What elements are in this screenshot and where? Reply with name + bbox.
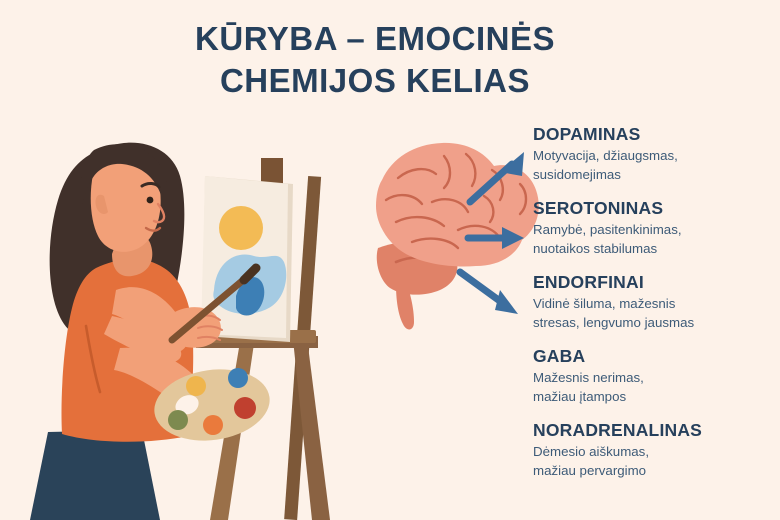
nt-desc-line: Ramybė, pasitenkinimas, — [533, 221, 780, 240]
nt-desc-gaba: Mažesnis nerimas, mažiau įtampos — [533, 369, 780, 407]
brain-illustration — [376, 143, 539, 330]
nt-desc-line: Dėmesio aiškumas, — [533, 443, 780, 462]
arrow-right — [468, 227, 524, 249]
nt-name-serotoninas: SEROTONINAS — [533, 198, 780, 218]
nt-desc-line: mažiau pervargimo — [533, 462, 780, 481]
nt-desc-line: nuotaikos stabilumas — [533, 240, 780, 259]
nt-name-noradrenalinas: NORADRENALINAS — [533, 420, 780, 440]
neurotransmitter-list: DOPAMINAS Motyvacija, džiaugsmas, susido… — [533, 124, 780, 493]
arrow-up-right — [470, 152, 524, 202]
brush-hand — [165, 307, 222, 348]
nt-desc-serotoninas: Ramybė, pasitenkinimas, nuotaikos stabil… — [533, 221, 780, 259]
paint-palette — [150, 362, 275, 447]
list-item: SEROTONINAS Ramybė, pasitenkinimas, nuot… — [533, 198, 780, 259]
easel — [186, 158, 330, 520]
arrow-down-right — [460, 272, 518, 314]
list-item: NORADRENALINAS Dėmesio aiškumas, mažiau … — [533, 420, 780, 481]
page-title: KŪRYBA – EMOCINĖS CHEMIJOS KELIAS — [150, 18, 600, 102]
nt-desc-line: susidomejimas — [533, 166, 780, 185]
paintbrush — [172, 268, 256, 340]
nt-desc-line: Vidinė šiluma, mažesnis — [533, 295, 780, 314]
nt-name-dopaminas: DOPAMINAS — [533, 124, 780, 144]
artist-figure — [30, 143, 274, 520]
nt-desc-endorfinai: Vidinė šiluma, mažesnis stresas, lengvum… — [533, 295, 780, 333]
nt-desc-noradrenalinas: Dėmesio aiškumas, mažiau pervargimo — [533, 443, 780, 481]
nt-name-gaba: GABA — [533, 346, 780, 366]
nt-desc-line: stresas, lengvumo jausmas — [533, 314, 780, 333]
title-line-2: CHEMIJOS KELIAS — [150, 60, 600, 102]
list-item: GABA Mažesnis nerimas, mažiau įtampos — [533, 346, 780, 407]
nt-name-endorfinai: ENDORFINAI — [533, 272, 780, 292]
nt-desc-dopaminas: Motyvacija, džiaugsmas, susidomejimas — [533, 147, 780, 185]
canvas-painting — [201, 176, 293, 342]
nt-desc-line: Motyvacija, džiaugsmas, — [533, 147, 780, 166]
list-item: DOPAMINAS Motyvacija, džiaugsmas, susido… — [533, 124, 780, 185]
title-line-1: KŪRYBA – EMOCINĖS — [150, 18, 600, 60]
signal-arrows — [460, 152, 524, 314]
nt-desc-line: Mažesnis nerimas, — [533, 369, 780, 388]
infographic-canvas: KŪRYBA – EMOCINĖS CHEMIJOS KELIAS DOPAMI… — [0, 0, 780, 520]
nt-desc-line: mažiau įtampos — [533, 388, 780, 407]
list-item: ENDORFINAI Vidinė šiluma, mažesnis stres… — [533, 272, 780, 333]
